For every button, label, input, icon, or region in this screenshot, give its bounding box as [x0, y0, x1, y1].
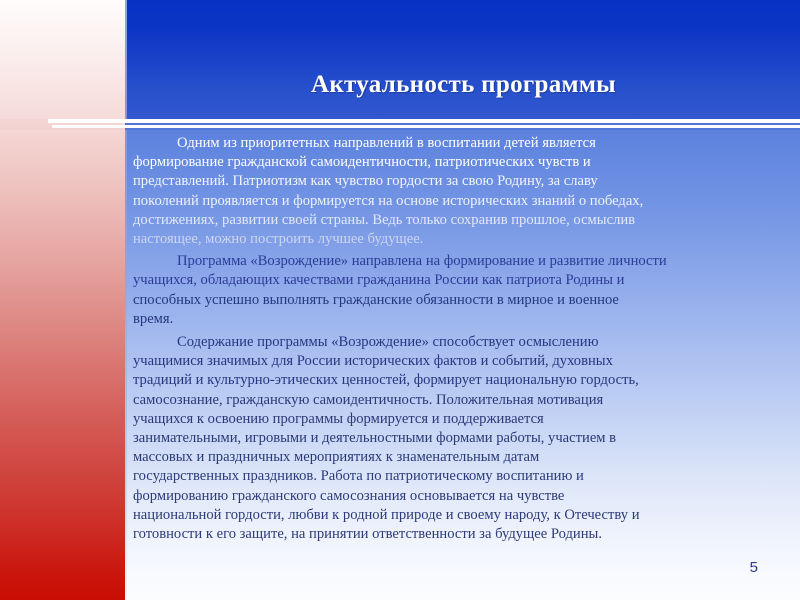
paragraph-3: Содержание программы «Возрождение» спосо… — [133, 333, 765, 544]
paragraph-2: Программа «Возрождение» направлена на фо… — [133, 252, 765, 329]
paragraph-3-line-4: самосознание, гражданскую самоидентичнос… — [133, 391, 765, 410]
paragraph-1-line-6: настоящее, можно построить лучшее будуще… — [133, 230, 765, 249]
paragraph-3-line-11: готовности к его защите, на принятии отв… — [133, 525, 765, 544]
paragraph-3-line-8: государственных праздников. Работа по па… — [133, 467, 765, 486]
presentation-slide: Актуальность программы Одним из приорите… — [0, 0, 800, 600]
paragraph-1-line-2: формирование гражданской самоидентичност… — [133, 153, 765, 172]
paragraph-1-line-3: представлений. Патриотизм как чувство го… — [133, 172, 765, 191]
paragraph-3-line-5: учащихся к освоению программы формируетс… — [133, 410, 765, 429]
paragraph-1-line-1: Одним из приоритетных направлений в восп… — [133, 134, 765, 153]
paragraph-1-line-4: поколений проявляется и формируется на о… — [133, 192, 765, 211]
divider-mask-blue-left — [0, 128, 125, 130]
paragraph-3-line-2: учащимися значимых для России историческ… — [133, 352, 765, 371]
paragraph-2-line-3: способных успешно выполнять гражданские … — [133, 291, 765, 310]
slide-header-panel — [127, 0, 800, 122]
paragraph-3-line-3: традиций и культурно-этических ценностей… — [133, 371, 765, 390]
paragraph-2-line-2: учащихся, обладающих качествами граждани… — [133, 271, 765, 290]
page-title: Актуальность программы — [127, 72, 800, 97]
paragraph-3-line-7: массовых и праздничных мероприятиях к зн… — [133, 448, 765, 467]
paragraph-3-line-1: Содержание программы «Возрождение» спосо… — [133, 333, 765, 352]
slide-body-text: Одним из приоритетных направлений в восп… — [133, 134, 765, 544]
paragraph-2-line-4: время. — [133, 310, 765, 329]
paragraph-3-line-9: формированию гражданского самосознания о… — [133, 487, 765, 506]
paragraph-2-line-1: Программа «Возрождение» направлена на фо… — [133, 252, 765, 271]
paragraph-1-line-5: достижениях, развитии своей страны. Ведь… — [133, 211, 765, 230]
paragraph-1: Одним из приоритетных направлений в восп… — [133, 134, 765, 249]
page-number: 5 — [750, 559, 758, 576]
left-red-accent-strip — [0, 0, 125, 600]
paragraph-3-line-6: занимательными, игровыми и деятельностны… — [133, 429, 765, 448]
paragraph-3-line-10: национальной гордости, любви к родной пр… — [133, 506, 765, 525]
